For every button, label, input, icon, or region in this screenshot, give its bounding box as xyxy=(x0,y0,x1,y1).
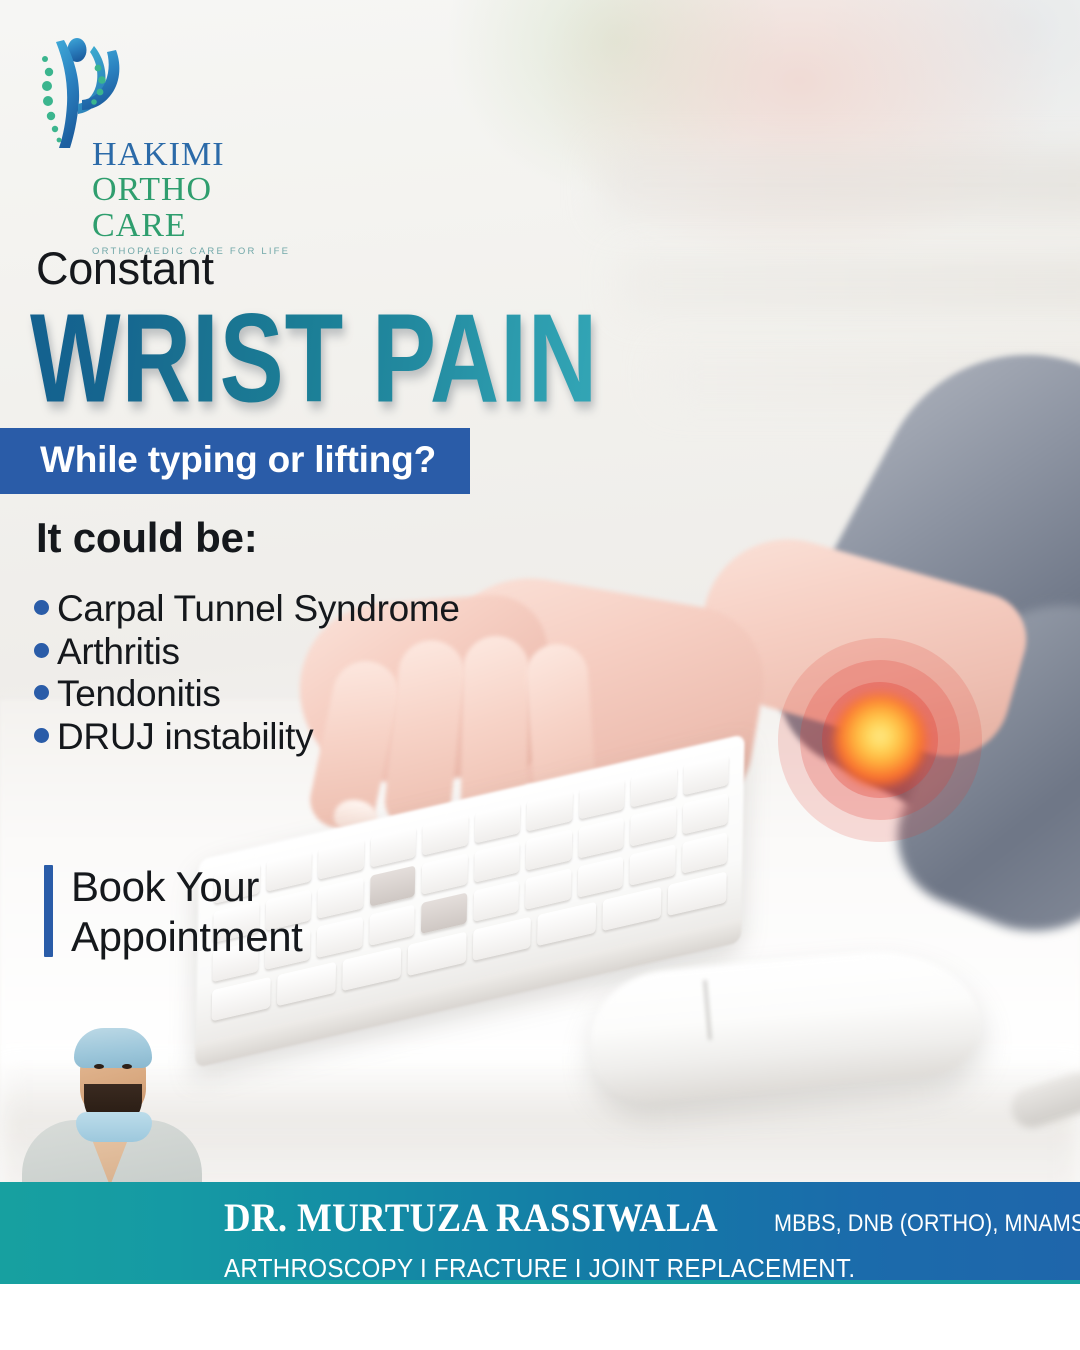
cta-line-2: Appointment xyxy=(71,912,302,962)
surgical-cap-icon xyxy=(74,1028,152,1068)
doctor-eye xyxy=(94,1064,104,1069)
bullet-dot-icon xyxy=(34,728,49,743)
pain-core-glow xyxy=(834,694,926,786)
cta-accent-bar xyxy=(44,865,53,957)
blurred-shelf-band xyxy=(600,150,1080,220)
list-item-label: Carpal Tunnel Syndrome xyxy=(57,590,460,628)
doctor-credentials: MBBS, DNB (ORTHO), MNAMS xyxy=(774,1210,1080,1238)
bullet-dot-icon xyxy=(34,685,49,700)
book-appointment-cta[interactable]: Book Your Appointment xyxy=(44,862,302,961)
doctor-name-banner: DR. MURTUZA RASSIWALA MBBS, DNB (ORTHO),… xyxy=(0,1182,1080,1280)
cta-line-1: Book Your xyxy=(71,862,302,912)
surgical-mask-icon xyxy=(76,1112,152,1142)
bullet-dot-icon xyxy=(34,600,49,615)
list-item-label: Arthritis xyxy=(57,633,180,671)
doctor-banner-content: DR. MURTUZA RASSIWALA MBBS, DNB (ORTHO),… xyxy=(224,1194,1060,1284)
list-item: Tendonitis xyxy=(34,675,460,713)
logo-wordmark: HAKIMI ORTHO CARE ORTHOPAEDIC CARE FOR L… xyxy=(92,138,292,257)
list-item: Carpal Tunnel Syndrome xyxy=(34,590,460,628)
brand-logo[interactable]: HAKIMI ORTHO CARE ORTHOPAEDIC CARE FOR L… xyxy=(34,28,284,188)
doctor-name: DR. MURTUZA RASSIWALA xyxy=(224,1194,718,1241)
list-item-label: DRUJ instability xyxy=(57,718,313,756)
headline-subtitle-banner: While typing or lifting? xyxy=(0,428,470,494)
symptoms-intro: It could be: xyxy=(36,514,258,562)
poster-canvas: HAKIMI ORTHO CARE ORTHOPAEDIC CARE FOR L… xyxy=(0,0,1080,1350)
headline-title: WRIST PAIN xyxy=(30,296,598,423)
contact-strip: CLINIC 1: 106, BADSHAH CHAMBER, 45 JAWAH… xyxy=(0,1284,1080,1350)
list-item: Arthritis xyxy=(34,633,460,671)
logo-name-orthocare: ORTHO CARE xyxy=(92,172,292,243)
doctor-eye xyxy=(122,1064,132,1069)
list-item-label: Tendonitis xyxy=(57,675,221,713)
bullet-dot-icon xyxy=(34,643,49,658)
blurred-shelf-band xyxy=(620,255,1080,313)
pain-pulse-icon xyxy=(778,638,982,842)
logo-name-hakimi: HAKIMI xyxy=(92,138,292,172)
list-item: DRUJ instability xyxy=(34,718,460,756)
symptoms-list: Carpal Tunnel Syndrome Arthritis Tendoni… xyxy=(34,590,460,761)
cta-text: Book Your Appointment xyxy=(71,862,302,961)
doctor-name-row: DR. MURTUZA RASSIWALA MBBS, DNB (ORTHO),… xyxy=(224,1194,1060,1241)
